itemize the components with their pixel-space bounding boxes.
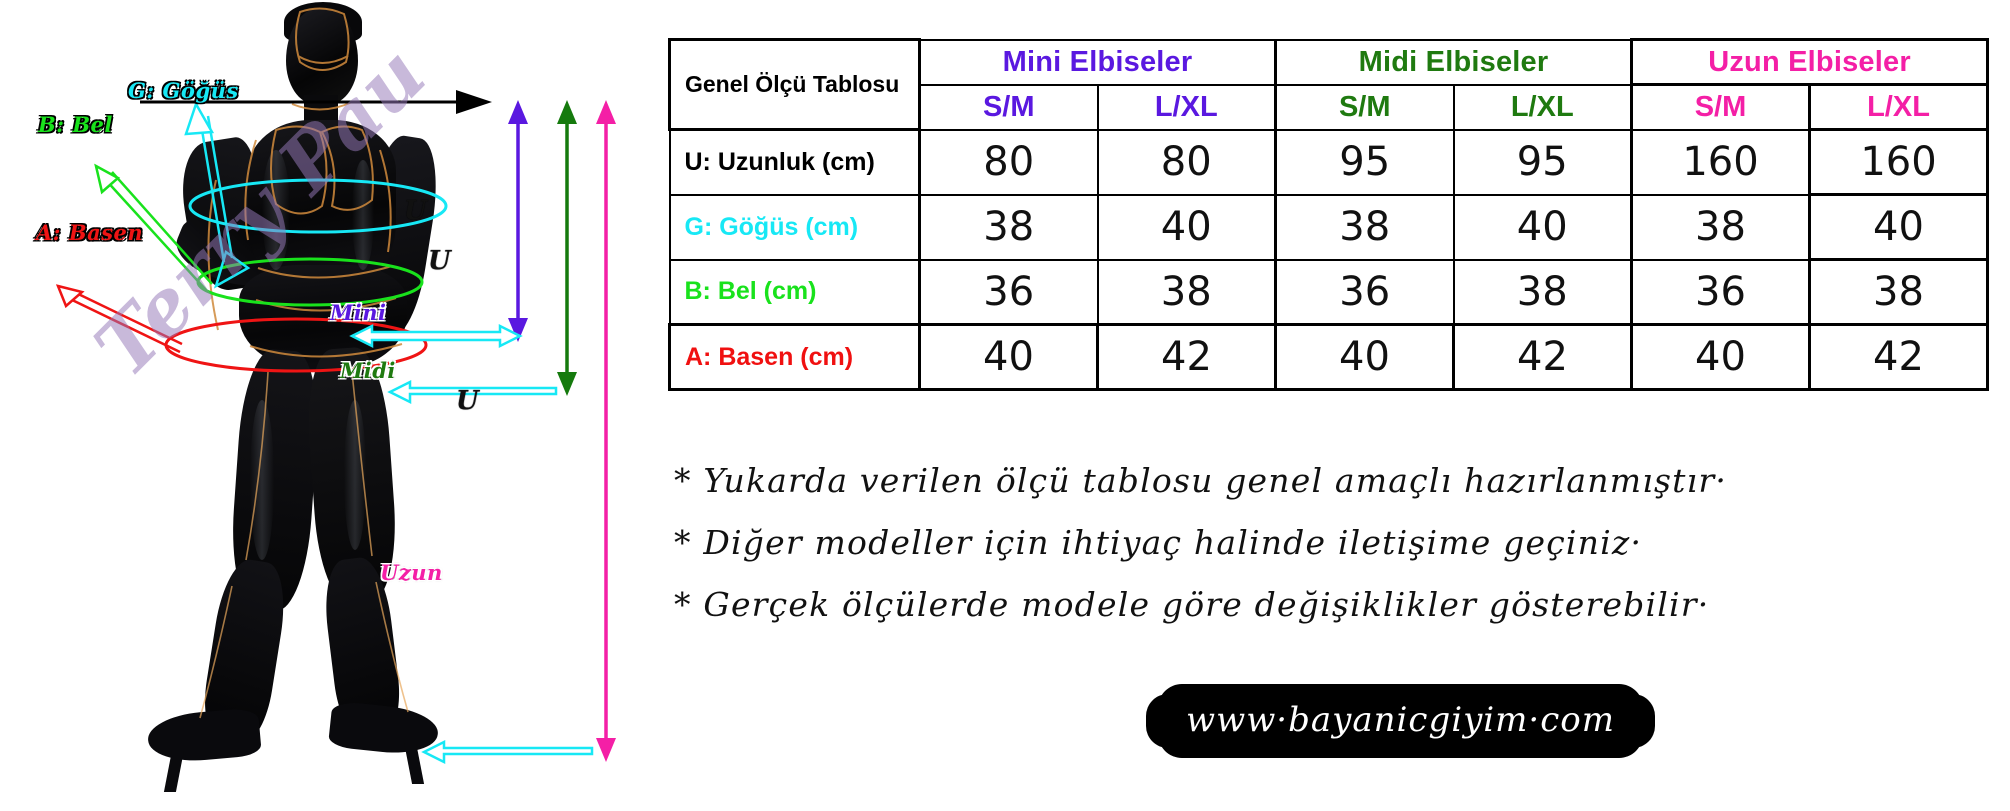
callout-midi: Midi [340, 358, 396, 383]
size-header-uzun-lxl: L/XL [1810, 85, 1988, 130]
table-header-groups: Genel Ölçü Tablosu Mini Elbiseler Midi E… [670, 40, 1988, 85]
website-url-banner[interactable]: www·bayanicgiyim·com [1156, 690, 1645, 752]
cell-basen-uzun-sm: 40 [1632, 325, 1810, 390]
cell-basen-mini-lxl: 42 [1098, 325, 1276, 390]
group-header-mini: Mini Elbiseler [920, 40, 1276, 85]
size-header-mini-sm: S/M [920, 85, 1098, 130]
cell-gogus-midi-lxl: 40 [1454, 195, 1632, 260]
model-illustration: Terry Pau G: Göğüs B: Bel A: Basen Mini … [0, 0, 660, 811]
cell-uzunluk-mini-lxl: 80 [1098, 130, 1276, 195]
cell-basen-mini-sm: 40 [920, 325, 1098, 390]
mini-hem-arrow [352, 326, 520, 346]
cell-bel-mini-sm: 36 [920, 260, 1098, 325]
cell-bel-mini-lxl: 38 [1098, 260, 1276, 325]
cell-gogus-midi-sm: 38 [1276, 195, 1454, 260]
notes-section: * Yukarda verilen ölçü tablosu genel ama… [674, 450, 2004, 636]
note-line-1: * Yukarda verilen ölçü tablosu genel ama… [674, 450, 2004, 512]
callout-uzun: Uzun [380, 560, 443, 585]
cell-basen-uzun-lxl: 42 [1810, 325, 1988, 390]
row-label-basen: A: Basen (cm) [670, 325, 920, 390]
size-chart-page: Terry Pau G: Göğüs B: Bel A: Basen Mini … [0, 0, 2010, 811]
group-header-uzun: Uzun Elbiseler [1632, 40, 1988, 85]
cell-gogus-uzun-sm: 38 [1632, 195, 1810, 260]
row-label-uzunluk: U: Uzunluk (cm) [670, 130, 920, 195]
size-chart-table: Genel Ölçü Tablosu Mini Elbiseler Midi E… [668, 38, 1989, 391]
group-header-midi: Midi Elbiseler [1276, 40, 1632, 85]
cell-uzunluk-uzun-lxl: 160 [1810, 130, 1988, 195]
table-corner-label: Genel Ölçü Tablosu [670, 40, 920, 130]
cell-bel-uzun-sm: 36 [1632, 260, 1810, 325]
callout-mini: Mini [330, 300, 386, 325]
uzun-hem-arrow [424, 742, 592, 762]
note-line-2: * Diğer modeller için ihtiyaç halinde il… [674, 512, 2004, 574]
info-panel: Genel Ölçü Tablosu Mini Elbiseler Midi E… [660, 0, 2010, 811]
cell-uzunluk-midi-lxl: 95 [1454, 130, 1632, 195]
cell-basen-midi-lxl: 42 [1454, 325, 1632, 390]
length-mark-midi: U [428, 246, 451, 276]
table-row: A: Basen (cm) 40 42 40 42 40 42 [670, 325, 1988, 390]
length-mark-mini: U [404, 196, 427, 226]
table-row: U: Uzunluk (cm) 80 80 95 95 160 160 [670, 130, 1988, 195]
size-header-mini-lxl: L/XL [1098, 85, 1276, 130]
callout-gogus: G: Göğüs [128, 78, 239, 103]
table-row: B: Bel (cm) 36 38 36 38 36 38 [670, 260, 1988, 325]
callout-basen: A: Basen [36, 220, 143, 245]
cell-gogus-mini-sm: 38 [920, 195, 1098, 260]
size-header-midi-lxl: L/XL [1454, 85, 1632, 130]
table-row: G: Göğüs (cm) 38 40 38 40 38 40 [670, 195, 1988, 260]
cell-gogus-mini-lxl: 40 [1098, 195, 1276, 260]
size-header-midi-sm: S/M [1276, 85, 1454, 130]
size-header-uzun-sm: S/M [1632, 85, 1810, 130]
cell-bel-midi-lxl: 38 [1454, 260, 1632, 325]
length-mark-uzun: U [456, 386, 479, 416]
cell-bel-uzun-lxl: 38 [1810, 260, 1988, 325]
cell-gogus-uzun-lxl: 40 [1810, 195, 1988, 260]
cell-uzunluk-mini-sm: 80 [920, 130, 1098, 195]
row-label-bel: B: Bel (cm) [670, 260, 920, 325]
cell-uzunluk-uzun-sm: 160 [1632, 130, 1810, 195]
callout-bel: B: Bel [38, 112, 113, 137]
note-line-3: * Gerçek ölçülerde modele göre değişikli… [674, 574, 2004, 636]
row-label-gogus: G: Göğüs (cm) [670, 195, 920, 260]
cell-uzunluk-midi-sm: 95 [1276, 130, 1454, 195]
cell-basen-midi-sm: 40 [1276, 325, 1454, 390]
cell-bel-midi-sm: 36 [1276, 260, 1454, 325]
